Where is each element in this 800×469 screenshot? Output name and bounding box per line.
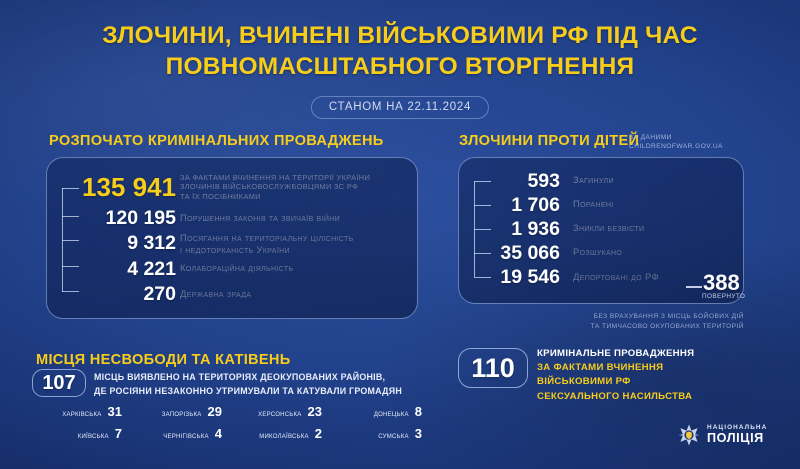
region-value: 7 (115, 426, 122, 441)
footnote-children: Без врахування з місць бойових дій та ти… (591, 312, 744, 331)
source-line: за даними (629, 134, 723, 143)
regions-grid: Харківська 31 Запорізька 29 Херсонська 2… (30, 404, 430, 441)
bracket-tick (474, 253, 491, 254)
stat-value: 35 066 (500, 242, 560, 265)
sexual-violence-line: сексуального насильства (537, 390, 694, 404)
bracket-tick (62, 266, 79, 267)
region-item: Харківська 31 (30, 404, 130, 419)
region-item: Київська 7 (30, 426, 130, 441)
page-title: ЗЛОЧИНИ, ВЧИНЕНІ ВІЙСЬКОВИМИ РФ ПІД ЧАС … (0, 20, 800, 83)
infographic-root: ЗЛОЧИНИ, ВЧИНЕНІ ВІЙСЬКОВИМИ РФ ПІД ЧАС … (0, 0, 800, 469)
region-name: Миколаївська (259, 430, 309, 440)
region-value: 4 (215, 426, 222, 441)
region-item: Миколаївська 2 (230, 426, 330, 441)
torture-description-line: місць виявлено на територіях деокуповани… (94, 371, 402, 385)
sexual-violence-line: військовими РФ (537, 375, 694, 389)
region-value: 8 (415, 404, 422, 419)
bracket-tick (62, 291, 79, 292)
bracket-tick (474, 229, 491, 230)
region-name: Харківська (62, 408, 101, 418)
region-name: Херсонська (258, 408, 301, 418)
sexual-violence-line: кримінальне провадження (537, 347, 694, 361)
region-value: 23 (308, 404, 322, 419)
page-title-line2: ПОВНОМАСШТАБНОГО ВТОРГНЕННЯ (0, 51, 800, 82)
stat-value: 1 936 (511, 218, 560, 241)
police-star-badge-icon (678, 424, 700, 446)
bracket-tick (474, 181, 491, 182)
date-badge: СТАНОМ НА 22.11.2024 (311, 96, 489, 119)
stat-value: 135 941 (82, 172, 176, 203)
bracket-tick (474, 277, 491, 278)
source-attribution: за даними childrenofwar.gov.ua (629, 134, 723, 151)
sexual-violence-description: кримінальне провадження за фактами вчине… (537, 347, 694, 404)
torture-description: місць виявлено на територіях деокуповани… (94, 371, 402, 399)
region-name: Київська (78, 430, 109, 440)
bracket-tick (62, 188, 79, 189)
bracket-tick (62, 240, 79, 241)
region-item: Херсонська 23 (230, 404, 330, 419)
stat-value: 270 (143, 283, 176, 306)
region-name: Чернігівська (163, 430, 209, 440)
region-value: 31 (108, 404, 122, 419)
region-name: Сумська (378, 430, 408, 440)
bracket-tick (474, 205, 491, 206)
section-heading-crimes-against-children: ЗЛОЧИНИ ПРОТИ ДІТЕЙ (459, 133, 639, 149)
footnote-line: та тимчасово окупованих територій (591, 322, 744, 332)
connector-line-returned (686, 286, 702, 288)
region-value: 29 (208, 404, 222, 419)
torture-description-line: де росіяни незаконно утримували та катув… (94, 385, 402, 399)
badge-sexual-violence-count: 110 (458, 348, 528, 388)
region-value: 2 (315, 426, 322, 441)
stat-value: 4 221 (127, 258, 176, 281)
stat-value: 120 195 (106, 207, 177, 230)
region-item: Запорізька 29 (130, 404, 230, 419)
source-line: childrenofwar.gov.ua (629, 143, 723, 152)
region-name: Запорізька (162, 408, 202, 418)
footnote-line: Без врахування з місць бойових дій (591, 312, 744, 322)
stat-value: 593 (527, 170, 560, 193)
police-logo: НАЦІОНАЛЬНА ПОЛІЦІЯ (678, 424, 767, 446)
badge-torture-count: 107 (32, 369, 86, 397)
section-heading-criminal-proceedings: РОЗПОЧАТО КРИМІНАЛЬНИХ ПРОВАДЖЕНЬ (49, 133, 384, 149)
region-item: Сумська 3 (330, 426, 430, 441)
region-value: 3 (415, 426, 422, 441)
bracket-tick (62, 216, 79, 217)
page-title-line1: ЗЛОЧИНИ, ВЧИНЕНІ ВІЙСЬКОВИМИ РФ ПІД ЧАС (0, 20, 800, 51)
region-item: Донецька 8 (330, 404, 430, 419)
stat-value: 9 312 (127, 232, 176, 255)
stat-value: 19 546 (500, 266, 560, 289)
stat-value: 1 706 (511, 194, 560, 217)
region-item: Чернігівська 4 (130, 426, 230, 441)
section-heading-torture-places: МІСЦЯ НЕСВОБОДИ ТА КАТІВЕНЬ (36, 352, 291, 368)
sexual-violence-line: за фактами вчинення (537, 361, 694, 375)
logo-text: НАЦІОНАЛЬНА ПОЛІЦІЯ (707, 425, 767, 445)
logo-line2: ПОЛІЦІЯ (707, 432, 767, 445)
stat-label-returned: Повернуто (702, 293, 745, 300)
region-name: Донецька (374, 408, 409, 418)
